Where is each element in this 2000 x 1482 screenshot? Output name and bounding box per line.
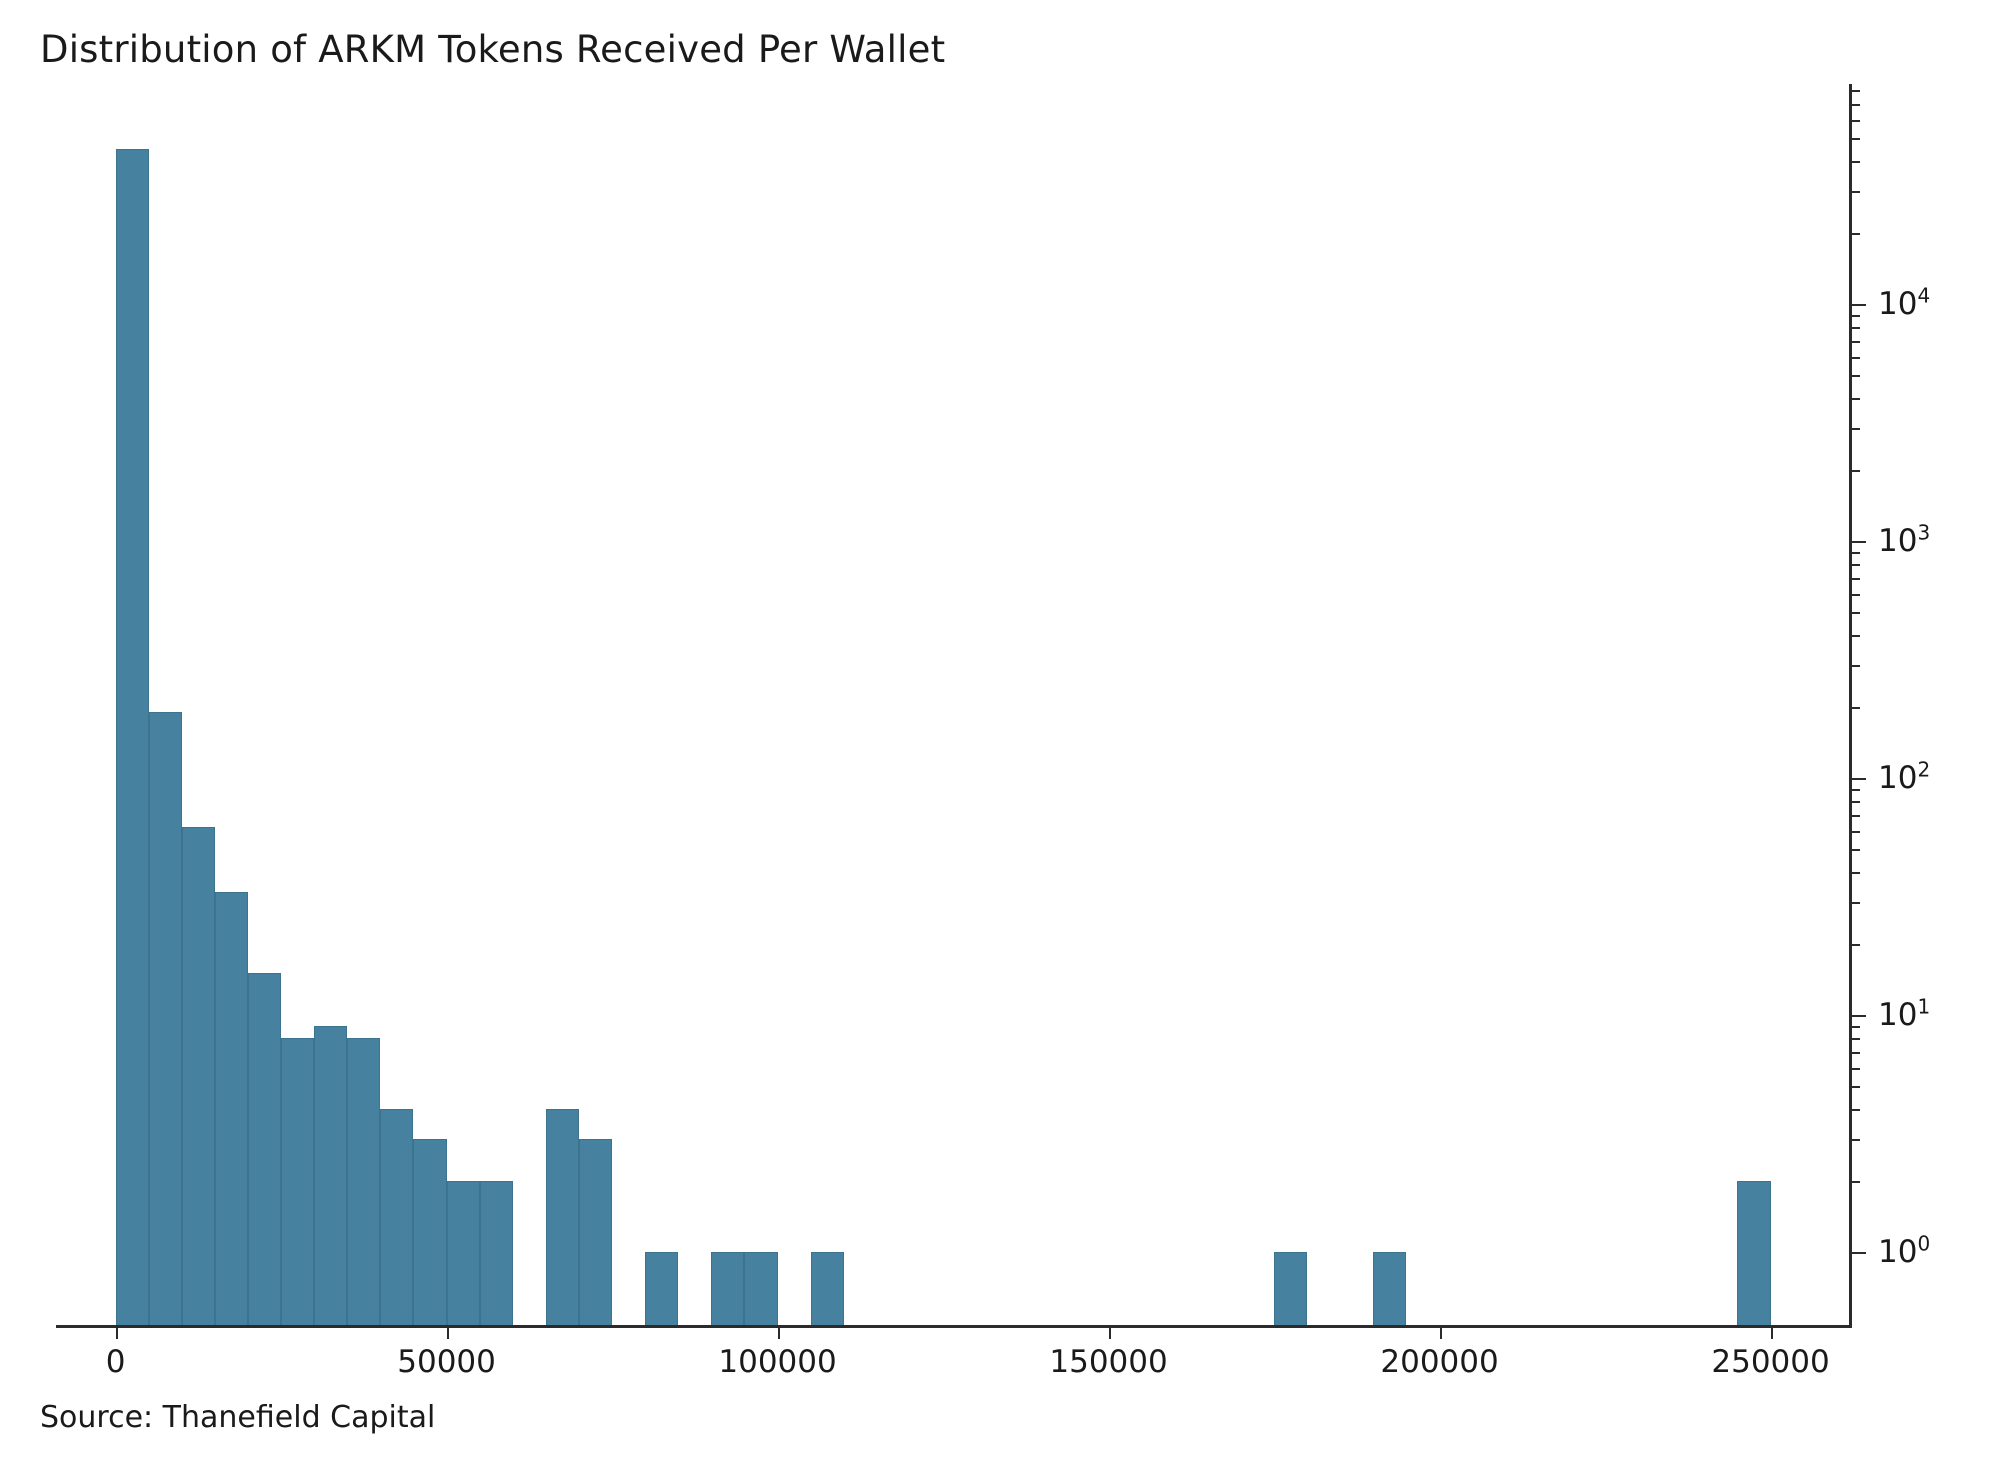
y-axis-major-tick [1849, 304, 1866, 306]
x-axis-tick [1771, 1326, 1773, 1339]
y-axis-minor-tick [1849, 138, 1860, 140]
histogram-bar [744, 1252, 777, 1326]
histogram-bar [182, 827, 215, 1326]
y-axis-tick-label: 101 [1878, 997, 1930, 1033]
y-axis-minor-tick [1849, 578, 1860, 580]
x-axis-tick-label: 250000 [1711, 1344, 1829, 1380]
y-axis-minor-tick [1849, 120, 1860, 122]
x-axis-tick [1440, 1326, 1442, 1339]
y-axis-minor-tick [1849, 872, 1860, 874]
histogram-bar [447, 1181, 480, 1326]
y-axis-minor-tick [1849, 161, 1860, 163]
y-axis-minor-tick [1849, 1026, 1860, 1028]
y-axis-minor-tick [1849, 594, 1860, 596]
y-axis-minor-tick [1849, 191, 1860, 193]
y-axis-minor-tick [1849, 428, 1860, 430]
y-axis-minor-tick [1849, 327, 1860, 329]
y-axis-minor-tick [1849, 90, 1860, 92]
y-axis-minor-tick [1849, 398, 1860, 400]
histogram-bar [645, 1252, 678, 1326]
y-axis-tick-label: 100 [1878, 1234, 1930, 1270]
y-axis-major-tick [1849, 1252, 1866, 1254]
histogram-bar [480, 1181, 513, 1326]
y-axis-tick-label: 104 [1878, 286, 1930, 322]
y-axis-minor-tick [1849, 902, 1860, 904]
y-axis-minor-tick [1849, 1068, 1860, 1070]
y-axis-minor-tick [1849, 801, 1860, 803]
y-axis-minor-tick [1849, 357, 1860, 359]
histogram-bar [811, 1252, 844, 1326]
y-axis-minor-tick [1849, 635, 1860, 637]
y-axis-minor-tick [1849, 315, 1860, 317]
y-axis-major-tick [1849, 778, 1866, 780]
y-axis-minor-tick [1849, 1109, 1860, 1111]
source-note: Source: Thanefield Capital [40, 1400, 435, 1435]
y-axis-minor-tick [1849, 815, 1860, 817]
plot-area [56, 86, 1850, 1326]
x-axis-tick-label: 100000 [718, 1344, 836, 1380]
y-axis-major-tick [1849, 541, 1866, 543]
chart-figure: Distribution of ARKM Tokens Received Per… [0, 0, 2000, 1482]
y-axis-minor-tick [1849, 1052, 1860, 1054]
histogram-bar [413, 1139, 446, 1326]
y-axis-minor-tick [1849, 849, 1860, 851]
y-axis-minor-tick [1849, 1181, 1860, 1183]
x-axis-tick [778, 1326, 780, 1339]
histogram-bar [380, 1109, 413, 1326]
y-axis-minor-tick [1849, 470, 1860, 472]
y-axis-minor-tick [1849, 341, 1860, 343]
y-axis-minor-tick [1849, 707, 1860, 709]
y-axis-minor-tick [1849, 233, 1860, 235]
y-axis-minor-tick [1849, 944, 1860, 946]
y-axis-minor-tick [1849, 831, 1860, 833]
x-axis-tick-label: 0 [106, 1344, 126, 1380]
histogram-bar [711, 1252, 744, 1326]
x-axis-tick-label: 200000 [1380, 1344, 1498, 1380]
y-axis-minor-tick [1849, 552, 1860, 554]
histogram-bar [1373, 1252, 1406, 1326]
histogram-bar [149, 712, 182, 1326]
y-axis-minor-tick [1849, 612, 1860, 614]
y-axis-minor-tick [1849, 1086, 1860, 1088]
histogram-bar [1737, 1181, 1770, 1326]
histogram-bar [281, 1038, 314, 1326]
x-axis-tick-label: 50000 [397, 1344, 496, 1380]
histogram-bar [215, 892, 248, 1326]
y-axis-minor-tick [1849, 1038, 1860, 1040]
histogram-bar [546, 1109, 579, 1326]
y-axis-minor-tick [1849, 665, 1860, 667]
y-axis-minor-tick [1849, 104, 1860, 106]
y-axis-major-tick [1849, 1015, 1866, 1017]
histogram-bar [347, 1038, 380, 1326]
y-axis-minor-tick [1849, 564, 1860, 566]
histogram-bar [314, 1026, 347, 1326]
histogram-bar [1274, 1252, 1307, 1326]
y-axis-tick-label: 102 [1878, 760, 1930, 796]
x-axis-line [56, 1325, 1850, 1328]
y-axis-minor-tick [1849, 789, 1860, 791]
x-axis-tick-label: 150000 [1049, 1344, 1167, 1380]
x-axis-tick [116, 1326, 118, 1339]
chart-title: Distribution of ARKM Tokens Received Per… [40, 28, 945, 71]
histogram-bar [579, 1139, 612, 1326]
x-axis-tick [1109, 1326, 1111, 1339]
y-axis-minor-tick [1849, 1139, 1860, 1141]
histogram-bar [248, 973, 281, 1326]
y-axis-tick-label: 103 [1878, 523, 1930, 559]
histogram-bar [116, 149, 149, 1326]
y-axis-minor-tick [1849, 375, 1860, 377]
x-axis-tick [447, 1326, 449, 1339]
